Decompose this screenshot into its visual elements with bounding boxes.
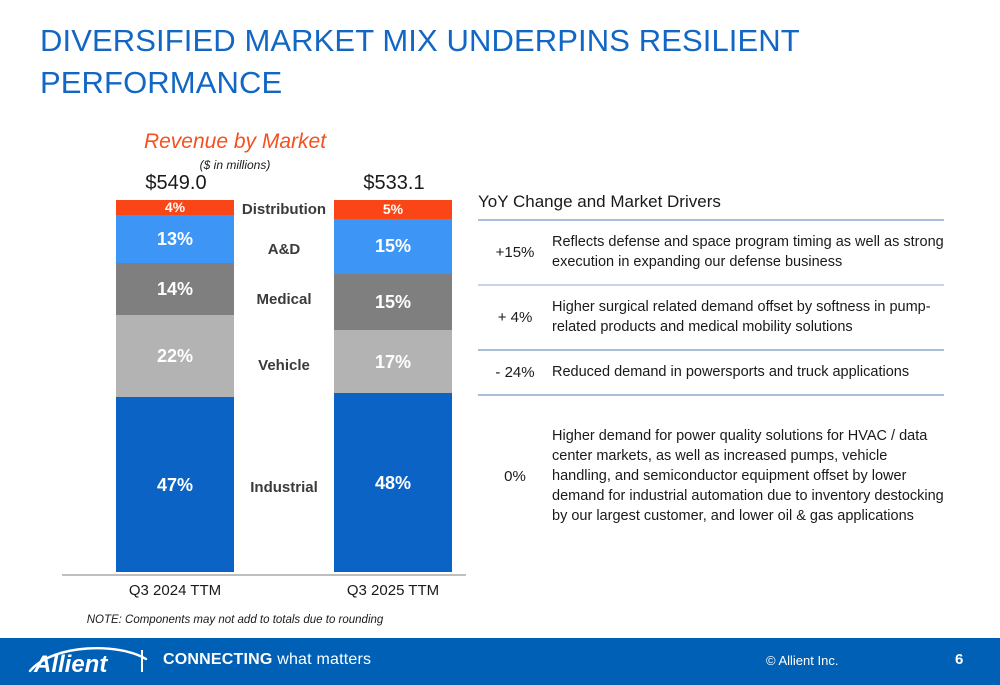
chart-title: Revenue by Market xyxy=(0,130,470,154)
bar-segment-aerospace-defense: 15% xyxy=(334,219,452,275)
copyright-text: © Allient Inc. xyxy=(766,653,838,668)
category-label-medical: Medical xyxy=(234,291,334,308)
category-label-vehicle: Vehicle xyxy=(234,357,334,374)
driver-description: Reduced demand in powersports and truck … xyxy=(552,362,944,382)
footer-divider xyxy=(141,650,143,672)
footer-bar: Allient CONNECTING what matters © Allien… xyxy=(0,638,1000,685)
bar-segment-vehicle: 17% xyxy=(334,330,452,393)
bar-total-q3-2024: $549.0 xyxy=(108,172,244,195)
drivers-heading: YoY Change and Market Drivers xyxy=(478,192,944,219)
page-number: 6 xyxy=(955,651,963,668)
driver-description: Higher surgical related demand offset by… xyxy=(552,297,944,337)
bar-segment-vehicle: 22% xyxy=(116,315,234,397)
revenue-by-market-chart: Revenue by Market ($ in millions) $549.0… xyxy=(0,120,470,635)
stacked-bar-q3-2024: 4% 13% 14% 22% 47% xyxy=(116,200,234,572)
bar-segment-industrial: 47% xyxy=(116,397,234,572)
driver-description: Reflects defense and space program timin… xyxy=(552,232,944,272)
page-title: DIVERSIFIED MARKET MIX UNDERPINS RESILIE… xyxy=(40,20,940,104)
bar-segment-distribution: 4% xyxy=(116,200,234,215)
driver-change-value: 0% xyxy=(478,468,552,485)
category-label-distribution: Distribution xyxy=(234,201,334,218)
driver-row: 0% Higher demand for power quality solut… xyxy=(478,396,944,548)
bar-segment-industrial: 48% xyxy=(334,393,452,572)
bar-total-q3-2025: $533.1 xyxy=(326,172,462,195)
driver-description: Higher demand for power quality solution… xyxy=(552,426,944,526)
bar-segment-medical: 14% xyxy=(116,263,234,315)
bar-segment-medical: 15% xyxy=(334,274,452,330)
driver-change-value: +15% xyxy=(478,244,552,261)
driver-row: - 24% Reduced demand in powersports and … xyxy=(478,351,944,394)
x-axis-label-q3-2025: Q3 2025 TTM xyxy=(325,582,461,599)
category-label-column: Distribution A&D Medical Vehicle Industr… xyxy=(234,200,334,572)
footer-tagline-strong: CONNECTING xyxy=(163,651,273,668)
footer-tagline-rest: what matters xyxy=(273,651,372,668)
category-label-aerospace-defense: A&D xyxy=(234,241,334,258)
bar-segment-aerospace-defense: 13% xyxy=(116,215,234,263)
bar-segment-distribution: 5% xyxy=(334,200,452,219)
allient-logo: Allient xyxy=(28,645,156,677)
chart-footnote: NOTE: Components may not add to totals d… xyxy=(0,614,470,626)
allient-logo-text: Allient xyxy=(33,651,108,677)
driver-row: + 4% Higher surgical related demand offs… xyxy=(478,286,944,349)
x-axis-label-q3-2024: Q3 2024 TTM xyxy=(107,582,243,599)
footer-tagline: CONNECTING what matters xyxy=(163,651,371,669)
driver-row: +15% Reflects defense and space program … xyxy=(478,221,944,284)
x-axis-line xyxy=(62,574,466,576)
driver-change-value: + 4% xyxy=(478,309,552,326)
yoy-drivers-panel: YoY Change and Market Drivers +15% Refle… xyxy=(478,192,944,548)
slide: DIVERSIFIED MARKET MIX UNDERPINS RESILIE… xyxy=(0,0,1000,685)
chart-subtitle: ($ in millions) xyxy=(0,158,470,172)
stacked-bar-q3-2025: 5% 15% 15% 17% 48% xyxy=(334,200,452,572)
driver-change-value: - 24% xyxy=(478,364,552,381)
category-label-industrial: Industrial xyxy=(234,479,334,496)
